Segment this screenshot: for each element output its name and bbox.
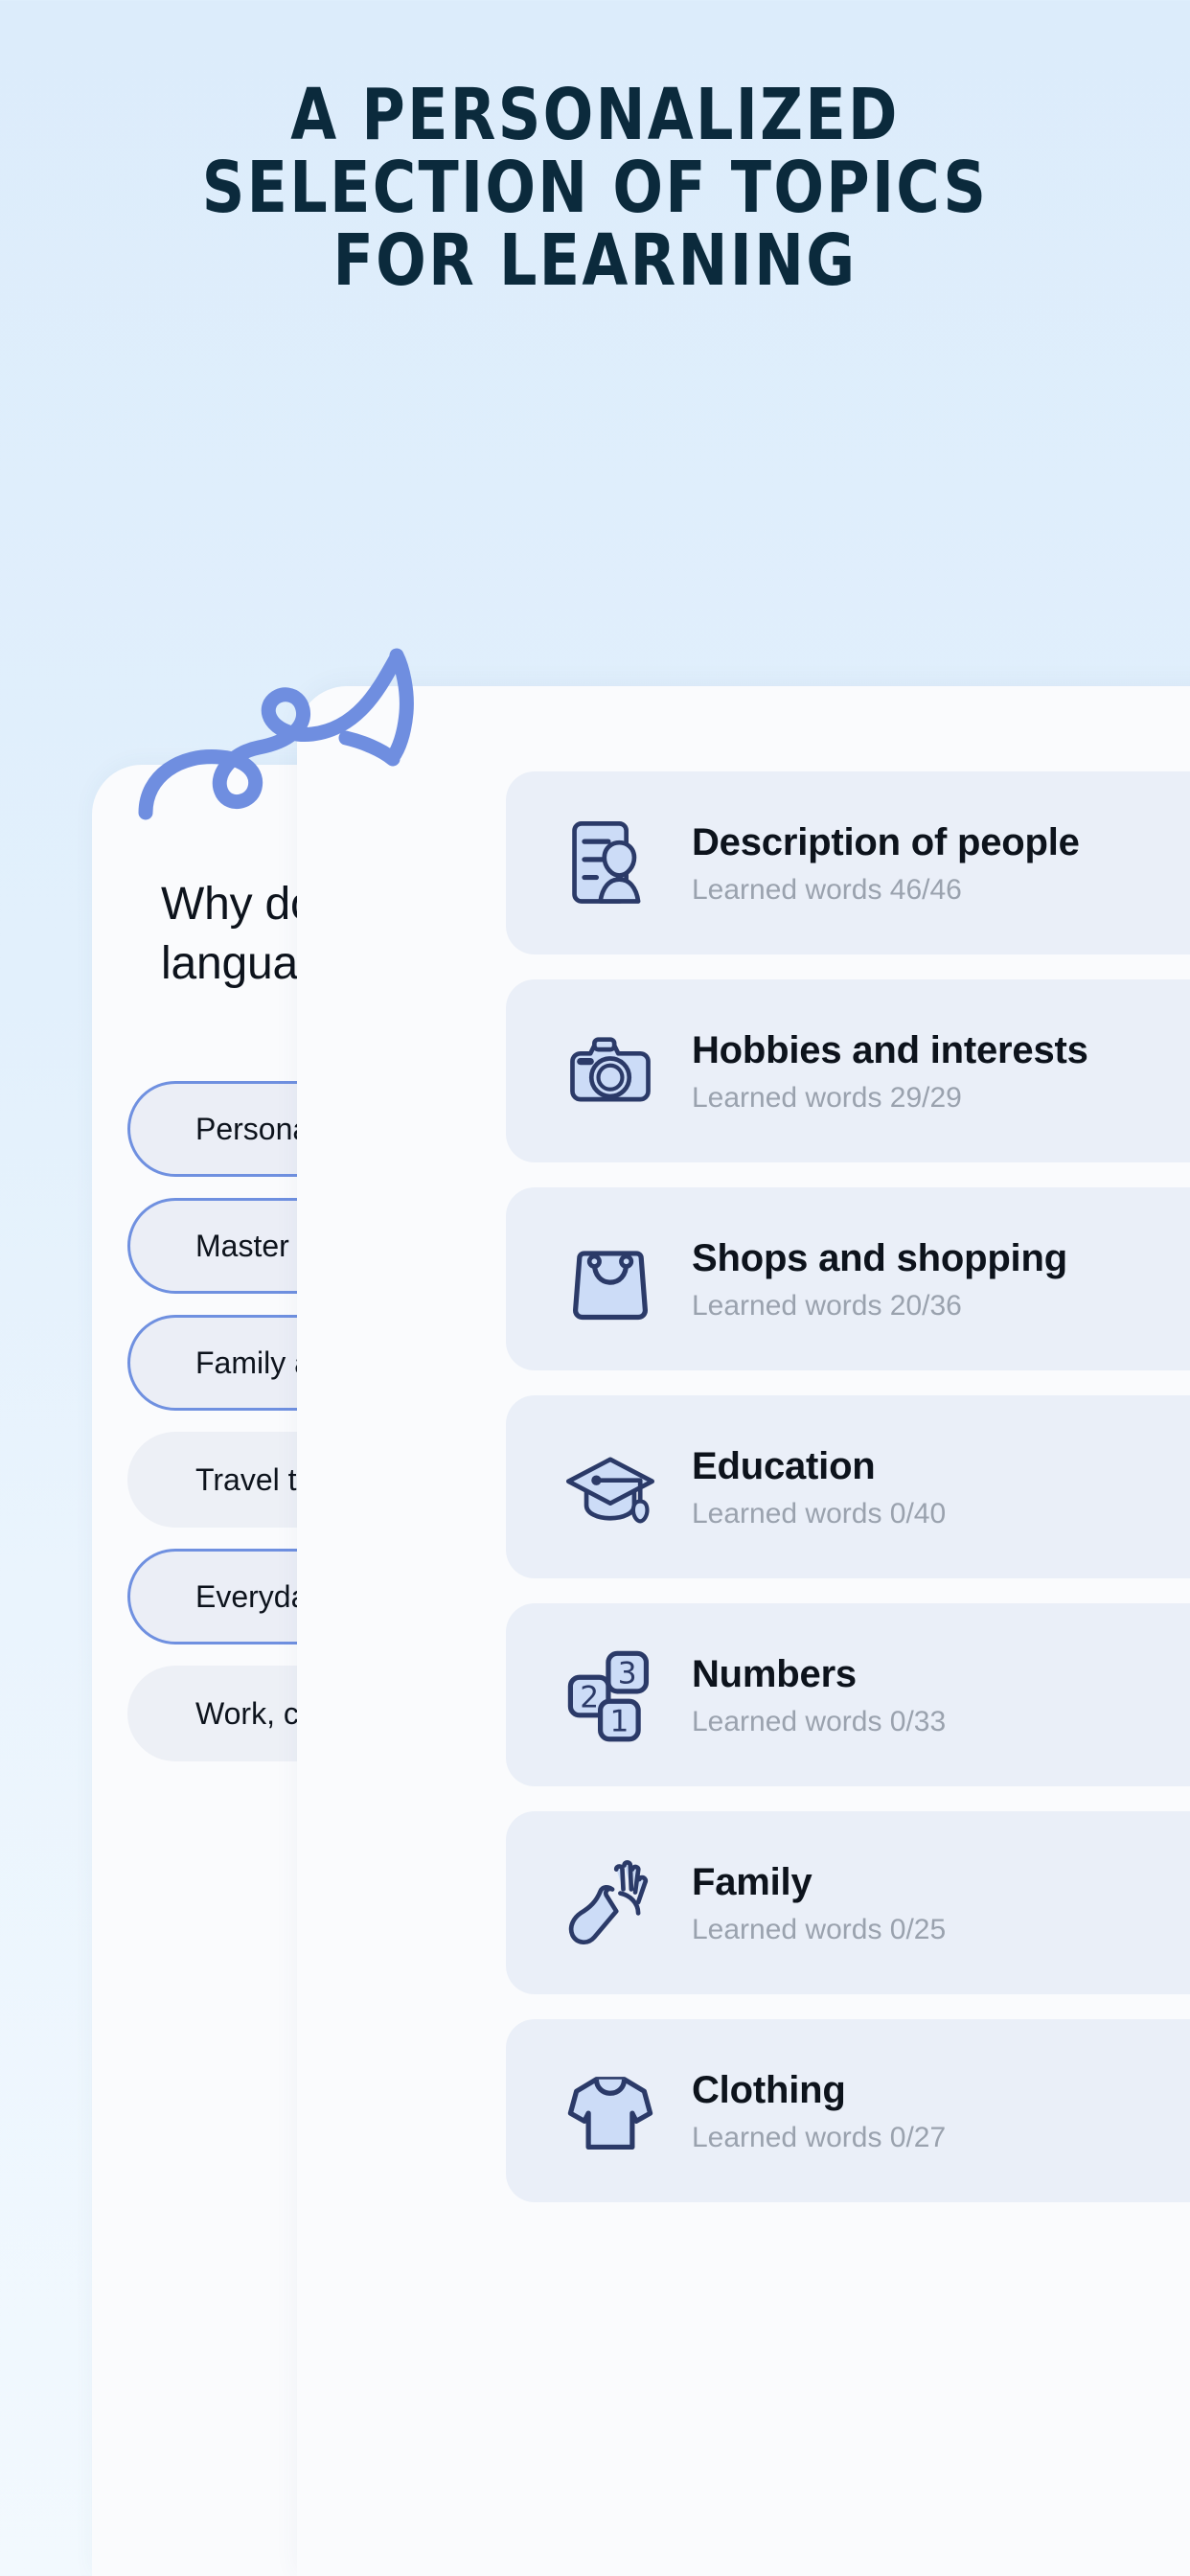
page-title: A PERSONALIZED SELECTION OF TOPICS FOR L…	[41, 79, 1148, 297]
topic-name: Family	[692, 1859, 946, 1905]
topic-progress-label: Learned words 0/40	[692, 1497, 946, 1531]
topic-row[interactable]: Shops and shoppingLearned words 20/36	[506, 1187, 1190, 1370]
topic-text: EducationLearned words 0/40	[692, 1443, 946, 1531]
topic-text: ClothingLearned words 0/27	[692, 2067, 946, 2155]
topic-progress-label: Learned words 29/29	[692, 1081, 1088, 1115]
topic-row[interactable]: ClothingLearned words 0/27	[506, 2019, 1190, 2202]
topic-progress-label: Learned words 20/36	[692, 1289, 1067, 1323]
topic-row[interactable]: EducationLearned words 0/40	[506, 1395, 1190, 1578]
shopping-bag-icon	[550, 1222, 671, 1337]
camera-icon	[550, 1014, 671, 1129]
topic-name: Shops and shopping	[692, 1235, 1067, 1281]
topic-name: Hobbies and interests	[692, 1027, 1088, 1073]
topic-text: NumbersLearned words 0/33	[692, 1651, 946, 1739]
graduation-cap-icon	[550, 1430, 671, 1545]
topic-name: Numbers	[692, 1651, 946, 1697]
curly-arrow-icon	[125, 594, 450, 824]
topic-progress-label: Learned words 0/33	[692, 1705, 946, 1739]
topic-row[interactable]: Hobbies and interestsLearned words 29/29	[506, 979, 1190, 1162]
topic-row[interactable]: NumbersLearned words 0/33	[506, 1603, 1190, 1786]
topic-text: Shops and shoppingLearned words 20/36	[692, 1235, 1067, 1323]
topic-progress-label: Learned words 46/46	[692, 873, 1080, 908]
id-card-person-icon	[550, 806, 671, 921]
topic-progress-label: Learned words 0/27	[692, 2121, 946, 2155]
topics-card: Description of peopleLearned words 46/46…	[297, 686, 1190, 2576]
topic-text: Hobbies and interestsLearned words 29/29	[692, 1027, 1088, 1115]
tshirt-icon	[550, 2054, 671, 2169]
topic-name: Description of people	[692, 819, 1080, 865]
number-blocks-icon	[550, 1638, 671, 1753]
waving-arm-icon	[550, 1846, 671, 1961]
page-title-line-3: FOR LEARNING	[41, 224, 1148, 297]
page-title-line-2: SELECTION OF TOPICS	[41, 151, 1148, 224]
topic-progress-label: Learned words 0/25	[692, 1913, 946, 1947]
topic-row[interactable]: FamilyLearned words 0/25	[506, 1811, 1190, 1994]
page-title-line-1: A PERSONALIZED	[41, 79, 1148, 151]
topic-name: Clothing	[692, 2067, 946, 2113]
topic-text: FamilyLearned words 0/25	[692, 1859, 946, 1947]
topic-list: Description of peopleLearned words 46/46…	[506, 771, 1190, 2227]
topic-row[interactable]: Description of peopleLearned words 46/46	[506, 771, 1190, 954]
topic-text: Description of peopleLearned words 46/46	[692, 819, 1080, 908]
topic-name: Education	[692, 1443, 946, 1489]
